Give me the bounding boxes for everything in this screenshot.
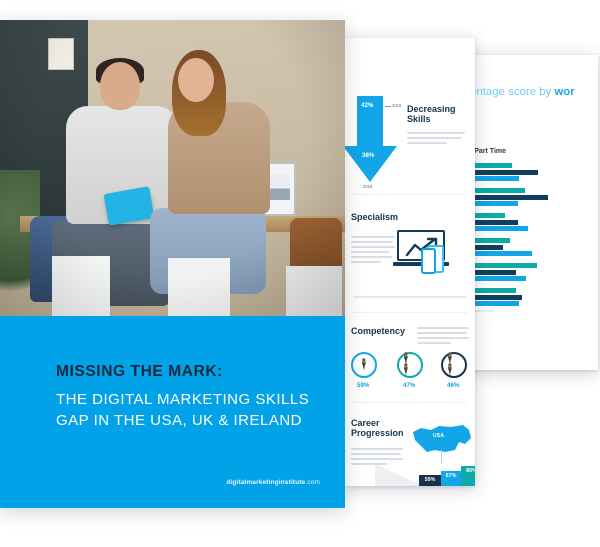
section-heading: Specialism: [351, 212, 409, 222]
ring-percent-usa: 46%: [447, 382, 459, 389]
people-icon: 🕴🕴: [443, 354, 465, 376]
bar-group: [468, 163, 598, 181]
cover-title: MISSING THE MARK:: [56, 363, 223, 381]
people-icon: 🕴🕴: [399, 354, 421, 376]
cover-page-sheet[interactable]: MISSING THE MARK: THE DIGITAL MARKETING …: [0, 20, 345, 508]
section-body-text: [407, 132, 465, 147]
section-heading: Decreasing Skills: [407, 104, 471, 124]
section-heading: Competency: [351, 326, 413, 336]
map-connector-line: [441, 450, 442, 464]
bar-uk: [468, 170, 538, 175]
bar-ireland: [468, 188, 525, 193]
section-decreasing-skills: 42% 38% 2016 2018 Decreasing Skills: [345, 90, 475, 202]
section-career-progression: Career Progression USA 59% 67% 80%: [345, 416, 475, 486]
bar-ireland: [468, 288, 516, 293]
stair-ireland: 67%: [441, 471, 461, 486]
horizontal-bar-chart: [468, 163, 598, 313]
arrow-bottom-percent: 38%: [362, 152, 374, 159]
usa-map-icon: [411, 422, 473, 456]
chart-page-sheet[interactable]: percentage score by wor loyed Part Time: [468, 55, 598, 370]
document-preview-canvas: percentage score by wor loyed Part Time …: [0, 0, 600, 547]
ring-percent-ireland: 59%: [357, 382, 369, 389]
ring-percent-uk: 47%: [403, 382, 415, 389]
chart-title: percentage score by wor: [468, 86, 575, 98]
career-stairs-chart: 59% 67% 80%: [375, 464, 475, 486]
bar-group: [468, 188, 598, 206]
bar-group: [468, 263, 598, 281]
bar-uk: [468, 295, 522, 300]
people-icon: 🕴: [357, 360, 371, 371]
section-specialism: Specialism: [345, 208, 475, 316]
cover-subtitle: THE DIGITAL MARKETING SKILLS GAP IN THE …: [56, 390, 318, 431]
bar-ireland: [468, 263, 537, 268]
section-body-text: [417, 327, 469, 347]
bar-usa: [468, 301, 519, 306]
stair-usa: 80%: [461, 466, 475, 486]
down-arrow-icon: 42% 38% 2016 2018: [345, 96, 399, 188]
bar-group: [468, 213, 598, 231]
stair-uk: 59%: [419, 475, 441, 486]
bar-uk: [468, 220, 518, 225]
section-body-text: [351, 236, 395, 266]
bar-usa: [468, 276, 526, 281]
bar-usa: [468, 176, 519, 181]
infographic-page-sheet[interactable]: 42% 38% 2016 2018 Decreasing Skills Spec…: [345, 38, 475, 486]
arrow-bottom-year: 2018: [363, 184, 372, 189]
bar-usa: [468, 201, 518, 206]
bar-group: [468, 288, 598, 306]
cover-footer-url: digitalmarketinginstitute.com: [226, 479, 320, 486]
bar-group: [468, 238, 598, 256]
section-caption: [353, 296, 467, 301]
bar-usa: [468, 226, 528, 231]
section-competency: Competency 🕴 59% 🕴🕴 47% 🕴🕴 46%: [345, 322, 475, 408]
section-heading: Career Progression: [351, 418, 407, 438]
bar-uk: [468, 195, 548, 200]
bar-uk: [468, 270, 516, 275]
arrow-top-year: 2016: [392, 103, 401, 108]
laptop-tablet-trend-icon: [397, 230, 455, 274]
cover-title-panel: MISSING THE MARK: THE DIGITAL MARKETING …: [0, 316, 345, 508]
cover-photograph: [0, 20, 345, 316]
arrow-top-percent: 42%: [361, 102, 373, 109]
ring-icon-uk: 🕴🕴: [397, 352, 423, 378]
ring-icon-usa: 🕴🕴: [441, 352, 467, 378]
ring-icon-ireland: 🕴: [351, 352, 377, 378]
bar-usa: [468, 251, 532, 256]
usa-map-label: USA: [433, 433, 444, 439]
